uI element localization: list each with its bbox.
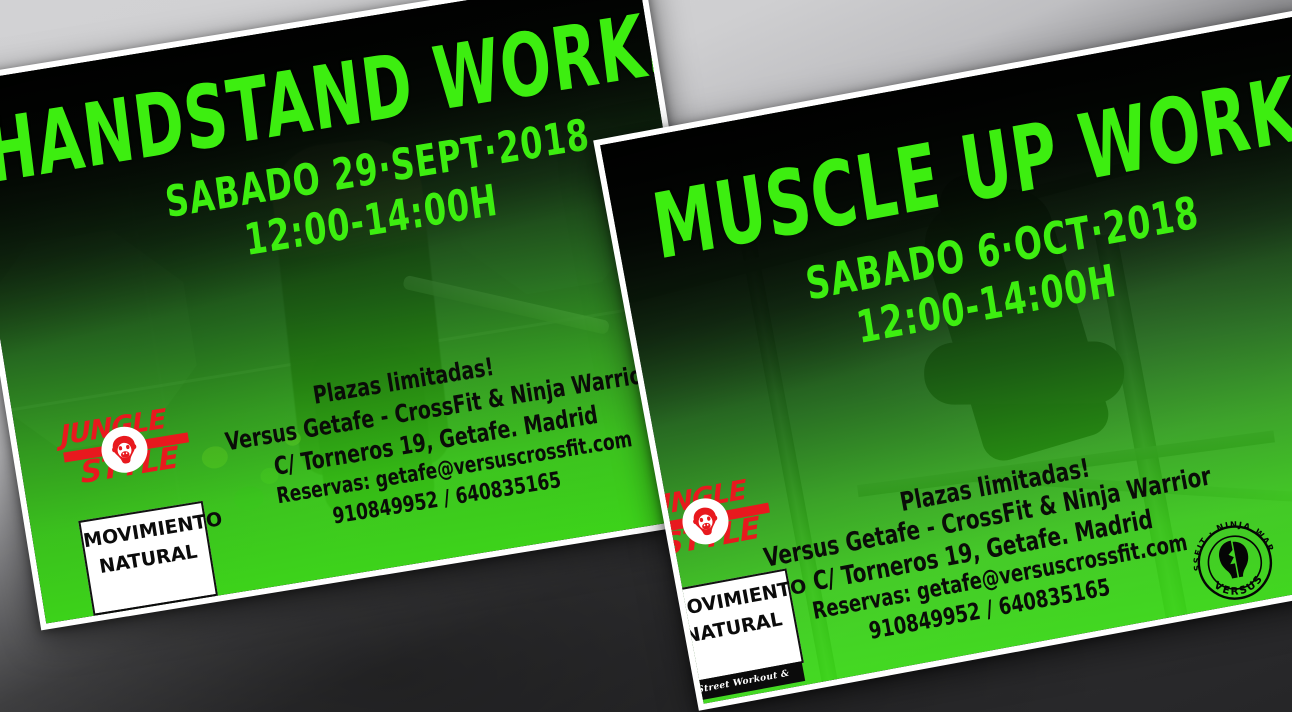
poster-muscleup-artboard: MUSCLE UP WORKSHOP SABADO 6·OCT·2018 12:… [600,16,1292,704]
versus-crossfit-ninja-warrior-badge: CROSSFIT · NINJA WARRIOR VERSUS [1179,507,1291,619]
spartan-helmet-icon [1217,538,1252,580]
poster-handstand[interactable]: HANDSTAND WORKSHOP SABADO 29·SEPT·2018 1… [0,0,732,630]
poster-scene: HANDSTAND WORKSHOP SABADO 29·SEPT·2018 1… [0,0,1292,712]
poster-handstand-artboard: HANDSTAND WORKSHOP SABADO 29·SEPT·2018 1… [0,0,725,623]
